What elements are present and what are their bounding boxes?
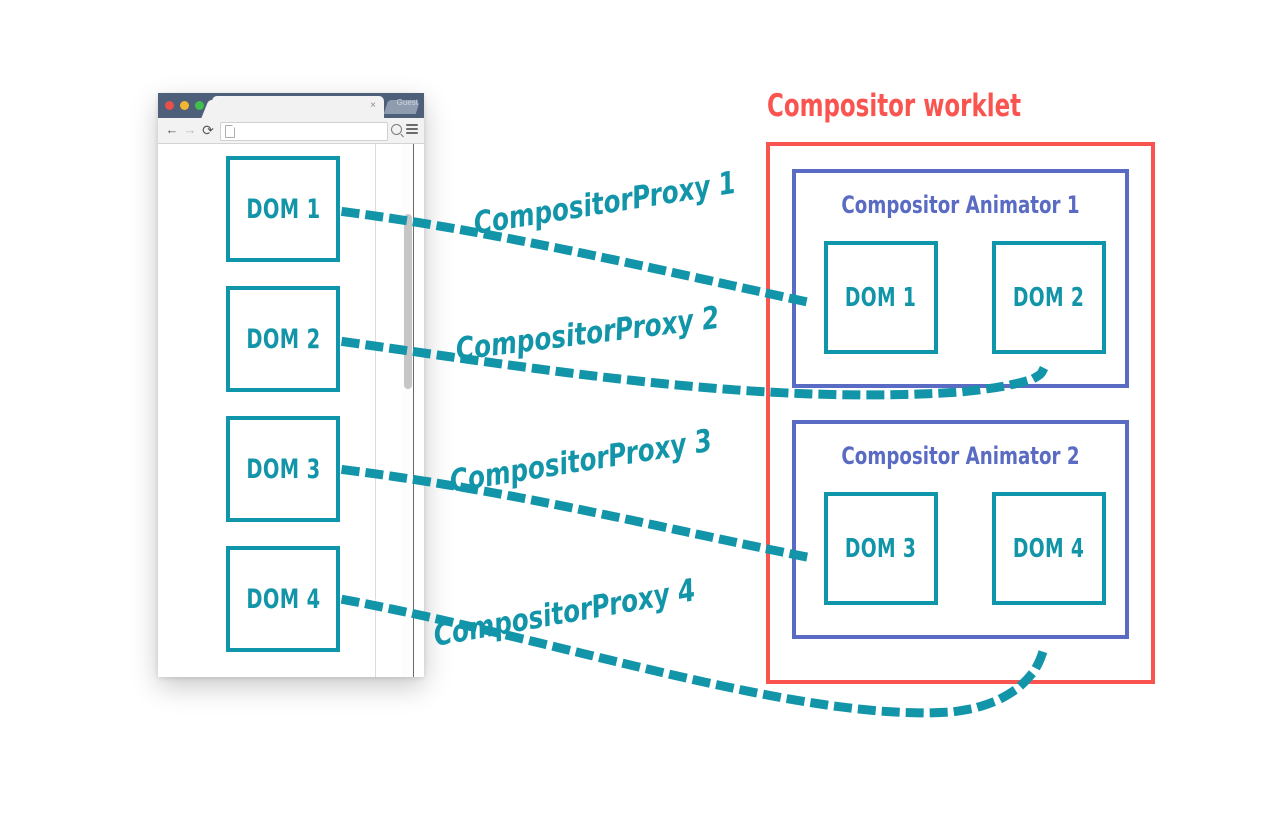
hamburger-menu-icon[interactable] — [406, 124, 418, 134]
compositor-animator-1: Compositor Animator 1 DOM 1 DOM 2 — [792, 169, 1129, 388]
compositor-animator-1-title: Compositor Animator 1 — [835, 191, 1085, 219]
animator-1-dom-box-2-label: DOM 2 — [1013, 283, 1084, 313]
compositor-animator-2-title: Compositor Animator 2 — [835, 442, 1085, 470]
tab-close-icon[interactable]: × — [370, 99, 376, 113]
animator-1-dom-box-1-label: DOM 1 — [845, 283, 916, 313]
browser-page-content: DOM 1 DOM 2 DOM 3 DOM 4 — [158, 144, 424, 677]
content-edge-divider — [413, 144, 414, 677]
proxy-label-3: CompositorProxy 3 — [447, 423, 714, 500]
scrollbar-thumb[interactable] — [404, 214, 412, 389]
forward-icon[interactable]: → — [182, 122, 198, 138]
page-dom-box-2-label: DOM 2 — [246, 324, 320, 355]
reload-icon[interactable]: ⟳ — [200, 122, 216, 138]
browser-toolbar: ← → ⟳ — [158, 118, 424, 144]
page-document-icon — [225, 125, 235, 138]
animator-1-dom-box-2: DOM 2 — [992, 241, 1106, 354]
maximize-window-button[interactable] — [195, 101, 204, 110]
diagram-canvas: × Guest ← → ⟳ DOM 1 — [0, 0, 1280, 815]
animator-1-dom-box-1: DOM 1 — [824, 241, 938, 354]
animator-2-dom-box-1: DOM 3 — [824, 492, 938, 605]
browser-window: × Guest ← → ⟳ DOM 1 — [158, 93, 424, 676]
minimize-window-button[interactable] — [180, 101, 189, 110]
content-divider — [375, 144, 376, 677]
animator-2-dom-box-2-label: DOM 4 — [1013, 534, 1084, 564]
compositor-worklet-container: Compositor Animator 1 DOM 1 DOM 2 Compos… — [766, 142, 1155, 684]
page-dom-box-4: DOM 4 — [226, 546, 340, 652]
page-dom-box-1: DOM 1 — [226, 156, 340, 262]
proxy-label-1: CompositorProxy 1 — [471, 165, 738, 242]
address-bar[interactable] — [220, 122, 388, 141]
browser-tab-bar: × Guest — [158, 93, 424, 118]
back-icon[interactable]: ← — [164, 122, 180, 138]
page-dom-box-1-label: DOM 1 — [246, 194, 320, 225]
worklet-title: Compositor worklet — [767, 88, 1021, 124]
compositor-animator-2: Compositor Animator 2 DOM 3 DOM 4 — [792, 420, 1129, 639]
close-window-button[interactable] — [165, 101, 174, 110]
animator-2-dom-box-1-label: DOM 3 — [845, 534, 916, 564]
search-icon[interactable] — [391, 124, 402, 135]
page-dom-box-2: DOM 2 — [226, 286, 340, 392]
page-dom-box-3: DOM 3 — [226, 416, 340, 522]
guest-profile-label[interactable]: Guest — [397, 98, 418, 107]
proxy-label-4: CompositorProxy 4 — [431, 572, 698, 653]
window-controls — [165, 101, 204, 110]
browser-tab[interactable]: × — [212, 96, 384, 118]
animator-2-dom-box-2: DOM 4 — [992, 492, 1106, 605]
proxy-label-2: CompositorProxy 2 — [454, 300, 721, 368]
page-scrollbar[interactable] — [402, 144, 413, 677]
page-dom-box-4-label: DOM 4 — [246, 584, 320, 615]
page-dom-box-3-label: DOM 3 — [246, 454, 320, 485]
